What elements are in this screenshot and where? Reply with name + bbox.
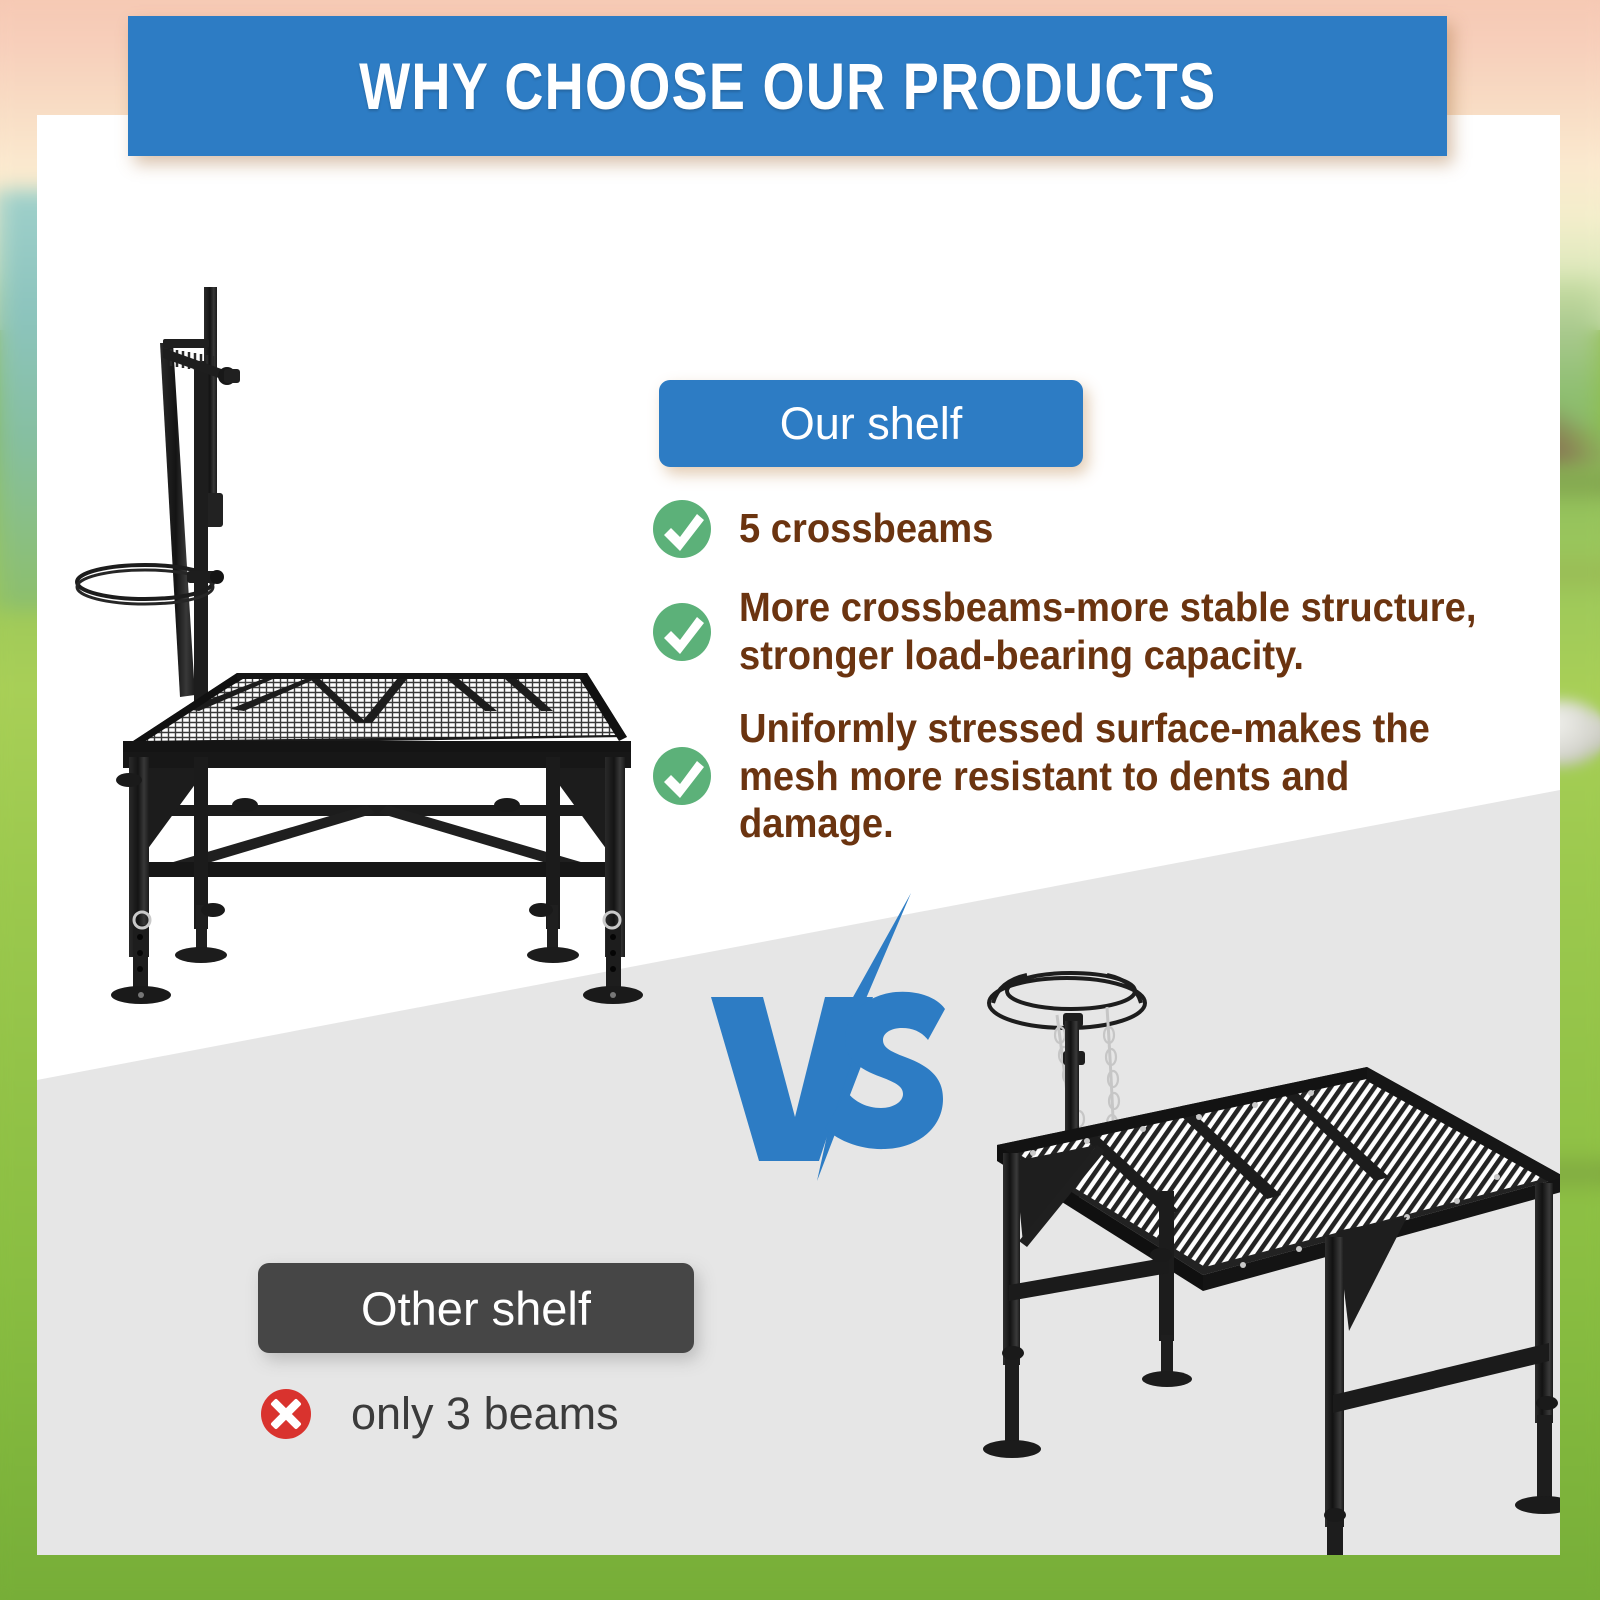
- check-circle-icon: [651, 498, 713, 560]
- head-restraint-assembly: [77, 287, 240, 701]
- feature-item: More crossbeams-more stable structure, s…: [651, 584, 1560, 679]
- check-circle-icon: [651, 601, 713, 663]
- adjustment-knob: [1002, 1248, 1558, 1522]
- our-shelf-badge-label: Our shelf: [780, 398, 963, 450]
- con-item-text: only 3 beams: [351, 1388, 619, 1440]
- our-shelf-frame: [111, 752, 643, 1004]
- header-banner: WHY CHOOSE OUR PRODUCTS: [128, 16, 1447, 156]
- other-shelf-badge: Other shelf: [258, 1263, 694, 1353]
- feature-item: Uniformly stressed surface-makes the mes…: [651, 705, 1560, 848]
- con-item: only 3 beams: [259, 1387, 619, 1441]
- feature-item-text: 5 crossbeams: [739, 505, 993, 553]
- foot-plate: [111, 947, 643, 1004]
- feature-item-text: Uniformly stressed surface-makes the mes…: [739, 705, 1474, 848]
- our-shelf-product-image: [67, 265, 667, 1005]
- check-circle-icon: [651, 745, 713, 807]
- feature-item: 5 crossbeams: [651, 498, 1560, 560]
- other-shelf-product-image: [937, 955, 1560, 1555]
- page-title: WHY CHOOSE OUR PRODUCTS: [359, 48, 1216, 124]
- feature-item-text: More crossbeams-more stable structure, s…: [739, 584, 1503, 679]
- content-panel: Our shelf 5 crossbeams More crossbeams-m…: [37, 115, 1560, 1555]
- versus-divider: [697, 885, 977, 1185]
- our-shelf-badge: Our shelf: [659, 380, 1083, 467]
- our-shelf-feature-list: 5 crossbeams More crossbeams-more stable…: [651, 498, 1560, 866]
- foot-plate: [983, 1371, 1560, 1555]
- other-shelf-con-list: only 3 beams: [259, 1387, 619, 1441]
- other-shelf-badge-label: Other shelf: [361, 1281, 591, 1336]
- cross-circle-icon: [259, 1387, 313, 1441]
